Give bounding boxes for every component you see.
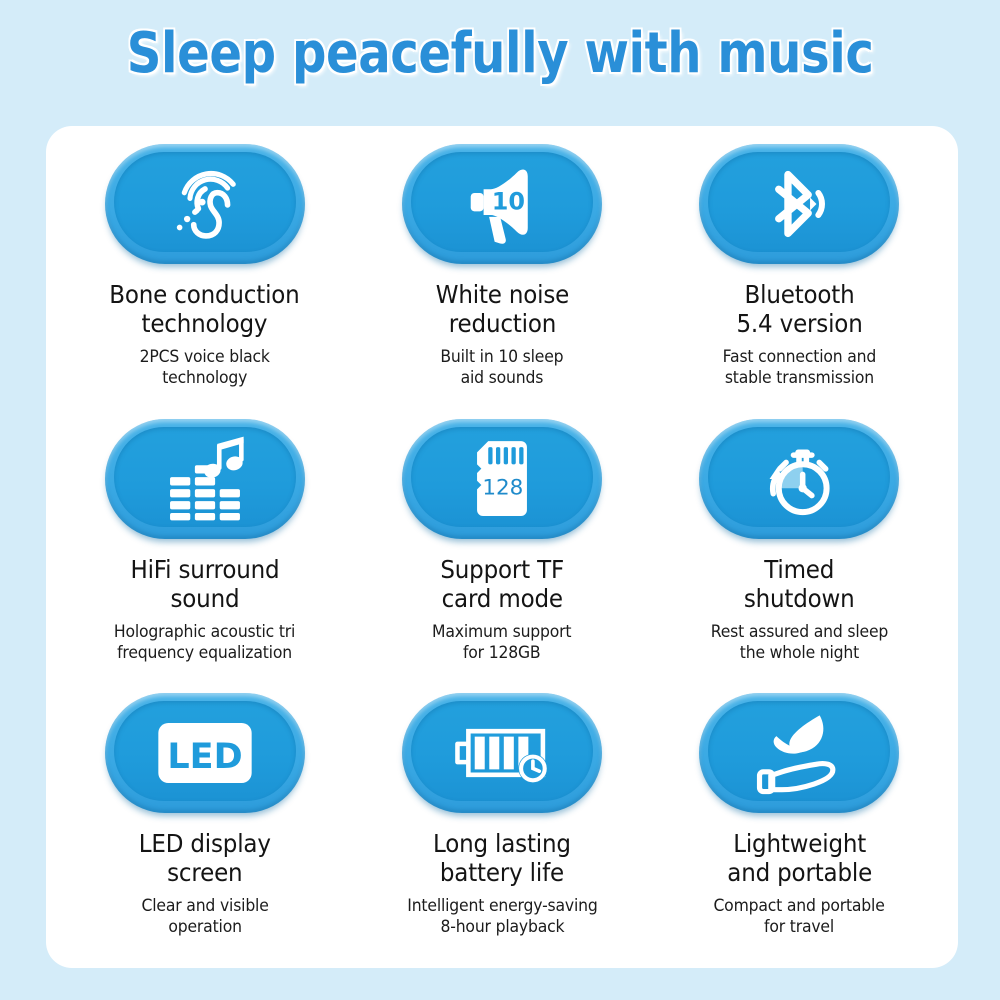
feature-subtitle: Compact and portable for travel [714, 896, 885, 938]
feature-subtitle: Maximum support for 128GB [432, 622, 571, 664]
feature-badge [402, 693, 602, 813]
ear-hearing-icon [155, 154, 255, 254]
bluetooth-signal-icon [749, 154, 849, 254]
feature-title: Support TF card mode [440, 555, 564, 613]
infographic-page: Sleep peacefully with music [0, 0, 1000, 1000]
feather-hand-icon [749, 703, 849, 803]
feature-title: Timed shutdown [744, 555, 855, 613]
feature-item-bluetooth[interactable]: Bluetooth 5.4 version Fast connection an… [651, 138, 948, 413]
feature-badge: 10 [402, 144, 602, 264]
microsd-card-icon: 128 [452, 429, 552, 529]
feature-item-led-display[interactable]: LED LED display screen Clear and visible… [56, 687, 353, 962]
feature-subtitle: Intelligent energy-saving 8-hour playbac… [407, 896, 597, 938]
feature-badge: 128 [402, 419, 602, 539]
feature-item-bone-conduction[interactable]: Bone conduction technology 2PCS voice bl… [56, 138, 353, 413]
feature-card: Bone conduction technology 2PCS voice bl… [46, 126, 958, 968]
feature-item-lightweight[interactable]: Lightweight and portable Compact and por… [651, 687, 948, 962]
page-title-text: Sleep peacefully with music [127, 18, 874, 90]
feature-item-timed-shutdown[interactable]: Timed shutdown Rest assured and sleep th… [651, 413, 948, 688]
feature-badge [699, 693, 899, 813]
feature-badge [105, 419, 305, 539]
feature-subtitle: Holographic acoustic tri frequency equal… [114, 622, 295, 664]
feature-subtitle: Built in 10 sleep aid sounds [440, 347, 563, 389]
feature-grid: Bone conduction technology 2PCS voice bl… [46, 126, 958, 968]
feature-item-battery-life[interactable]: Long lasting battery life Intelligent en… [353, 687, 650, 962]
page-title: Sleep peacefully with music [0, 18, 1000, 90]
feature-subtitle: Fast connection and stable transmission [723, 347, 876, 389]
feature-title: Bone conduction technology [110, 280, 300, 338]
microsd-capacity-label: 128 [482, 475, 523, 500]
feature-item-white-noise[interactable]: 10 White noise reduction Built in 10 sle… [353, 138, 650, 413]
feature-title: Long lasting battery life [433, 829, 571, 887]
stopwatch-timer-icon [749, 429, 849, 529]
feature-title: Lightweight and portable [727, 829, 872, 887]
feature-badge [699, 419, 899, 539]
led-screen-icon: LED [155, 703, 255, 803]
feature-title: Bluetooth 5.4 version [736, 280, 862, 338]
feature-badge [105, 144, 305, 264]
battery-clock-icon [452, 703, 552, 803]
feature-title: HiFi surround sound [130, 555, 279, 613]
feature-item-hifi-surround[interactable]: HiFi surround sound Holographic acoustic… [56, 413, 353, 688]
feature-subtitle: Rest assured and sleep the whole night [711, 622, 888, 664]
megaphone-10-icon: 10 [452, 154, 552, 254]
feature-badge [699, 144, 899, 264]
feature-title: LED display screen [139, 829, 271, 887]
feature-badge: LED [105, 693, 305, 813]
feature-subtitle: 2PCS voice black technology [140, 347, 270, 389]
led-label: LED [167, 737, 242, 777]
equalizer-music-note-icon [155, 429, 255, 529]
feature-subtitle: Clear and visible operation [141, 896, 268, 938]
feature-title: White noise reduction [435, 280, 568, 338]
feature-item-tf-card[interactable]: 128 Support TF card mode Maximum support… [353, 413, 650, 688]
